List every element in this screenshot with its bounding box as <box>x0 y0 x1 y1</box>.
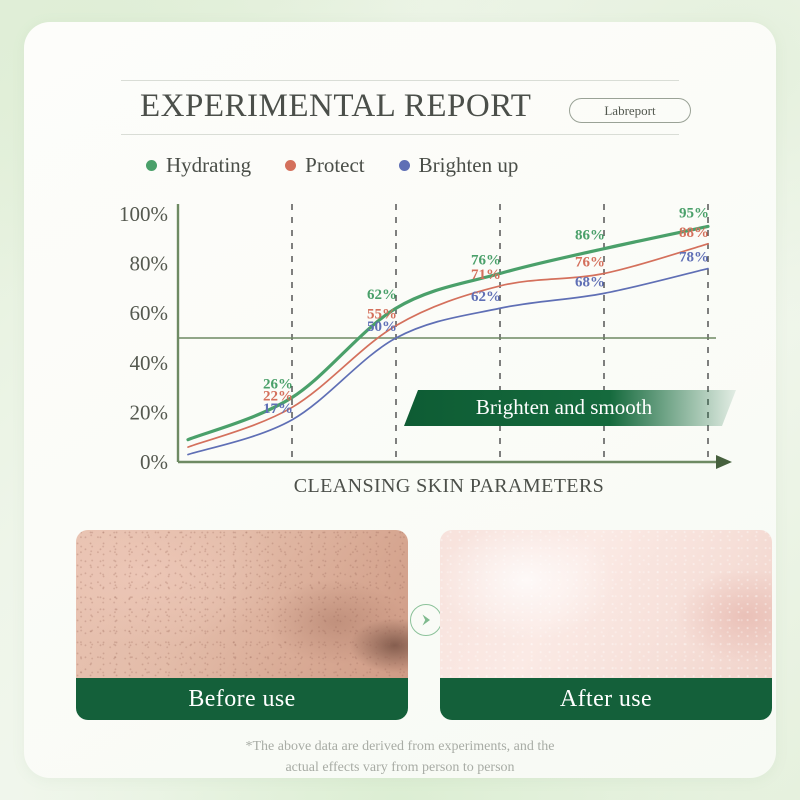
footnote: *The above data are derived from experim… <box>24 736 776 778</box>
svg-text:Brighten and smooth: Brighten and smooth <box>476 395 653 419</box>
report-card: EXPERIMENTAL REPORT Labreport Hydrating … <box>24 22 776 778</box>
legend-item-label: Hydrating <box>166 153 251 178</box>
legend-item-hydrating[interactable]: Hydrating <box>146 153 251 178</box>
lab-report-badge: Labreport <box>569 98 691 123</box>
legend-item-protect[interactable]: Protect <box>285 153 364 178</box>
before-after-comparison: Before use After use <box>76 530 772 720</box>
y-tick-label: 0% <box>140 450 168 474</box>
legend-item-label: Protect <box>305 153 364 178</box>
page-title: EXPERIMENTAL REPORT <box>140 88 531 125</box>
data-point-label: 95% <box>679 205 709 221</box>
y-tick-label: 80% <box>130 252 169 276</box>
footnote-line-1: *The above data are derived from experim… <box>24 736 776 757</box>
data-point-label: 62% <box>367 287 397 303</box>
header-divider-bottom <box>121 134 679 135</box>
before-image <box>76 530 408 678</box>
chart-legend: Hydrating Protect Brighten up <box>146 153 518 178</box>
data-point-label: 76% <box>575 255 605 271</box>
svg-text:CLEANSING SKIN PARAMETERS: CLEANSING SKIN PARAMETERS <box>294 475 604 497</box>
y-tick-label: 20% <box>130 400 169 424</box>
line-chart: 0%20%40%60%80%100% Brighten and smooth 2… <box>112 198 736 510</box>
after-image <box>440 530 772 678</box>
legend-item-brighten-up[interactable]: Brighten up <box>399 153 519 178</box>
lab-report-badge-label: Labreport <box>604 103 655 119</box>
report-page: EXPERIMENTAL REPORT Labreport Hydrating … <box>0 0 800 800</box>
data-point-label: 86% <box>575 228 605 244</box>
y-axis-ticks: 0%20%40%60%80%100% <box>119 202 168 474</box>
y-tick-label: 100% <box>119 202 168 226</box>
after-caption: After use <box>440 678 772 720</box>
series-line <box>188 269 708 455</box>
data-point-label: 71% <box>471 267 501 283</box>
data-point-label: 68% <box>575 274 605 290</box>
data-point-label: 50% <box>367 319 397 335</box>
header-divider-top <box>121 80 679 81</box>
legend-dot-icon <box>285 160 296 171</box>
x-axis-arrow-icon <box>716 455 732 469</box>
y-tick-label: 40% <box>130 351 169 375</box>
banner-annotation: Brighten and smooth <box>404 390 736 426</box>
legend-dot-icon <box>399 160 410 171</box>
y-tick-label: 60% <box>130 301 169 325</box>
legend-item-label: Brighten up <box>419 153 519 178</box>
chevron-right-icon <box>410 604 442 636</box>
before-card[interactable]: Before use <box>76 530 408 720</box>
data-point-label: 62% <box>471 289 501 305</box>
legend-dot-icon <box>146 160 157 171</box>
footnote-line-2: actual effects vary from person to perso… <box>24 757 776 778</box>
data-point-label: 17% <box>263 401 293 417</box>
data-point-label: 78% <box>679 250 709 266</box>
data-point-label: 88% <box>679 225 709 241</box>
before-caption: Before use <box>76 678 408 720</box>
after-card[interactable]: After use <box>440 530 772 720</box>
